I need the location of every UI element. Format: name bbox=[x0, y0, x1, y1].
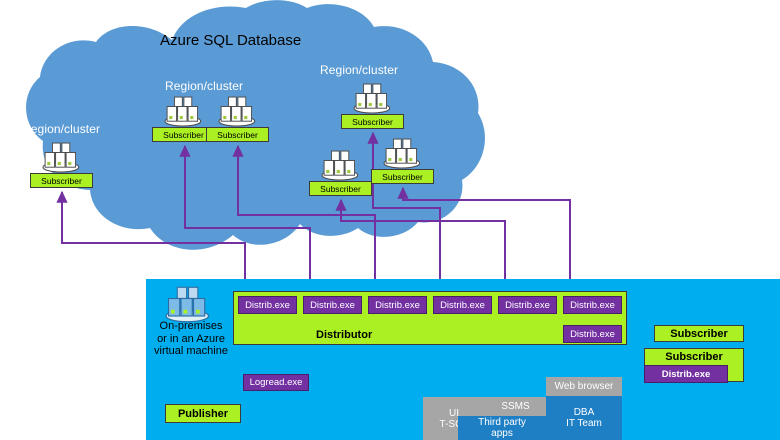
tool-web-browser[interactable]: Web browser bbox=[546, 377, 622, 396]
onprem-subscriber-2-label: Subscriber bbox=[645, 349, 743, 365]
publisher-node[interactable]: Publisher bbox=[165, 404, 241, 423]
onpremises-caption-line-3: virtual machine bbox=[152, 345, 230, 358]
tool-ssms[interactable]: SSMS bbox=[485, 397, 546, 416]
cloud-title: Azure SQL Database bbox=[160, 32, 301, 49]
onprem-subscriber-1[interactable]: Subscriber bbox=[654, 325, 744, 342]
distrib-agent-6[interactable]: Distrib.exe bbox=[563, 296, 622, 314]
cloud-subscriber-1[interactable]: Subscriber bbox=[30, 173, 93, 188]
tool-dba-it-team[interactable]: DBA IT Team bbox=[546, 396, 622, 440]
cloud-subscriber-4[interactable]: Subscriber bbox=[341, 114, 404, 129]
cloud-subscriber-6[interactable]: Subscriber bbox=[371, 169, 434, 184]
distrib-agent-1[interactable]: Distrib.exe bbox=[238, 296, 297, 314]
region-title-2: Region/cluster bbox=[165, 79, 243, 93]
onpremises-caption: On-premises or in an Azure virtual machi… bbox=[152, 320, 230, 358]
logread-agent[interactable]: Logread.exe bbox=[243, 374, 309, 391]
onpremises-caption-line-1: On-premises bbox=[152, 320, 230, 333]
distributor-label: Distributor bbox=[316, 329, 372, 341]
diagram-canvas: Azure SQL Database Region/clusterRegion/… bbox=[0, 0, 780, 440]
distrib-agent-5[interactable]: Distrib.exe bbox=[498, 296, 557, 314]
onprem-subscriber-2-distrib-agent[interactable]: Distrib.exe bbox=[644, 365, 728, 383]
distrib-agent-3[interactable]: Distrib.exe bbox=[368, 296, 427, 314]
region-title-1: Region/cluster bbox=[22, 122, 100, 136]
distrib-agent-4[interactable]: Distrib.exe bbox=[433, 296, 492, 314]
distrib-agent-inner[interactable]: Distrib.exe bbox=[563, 325, 622, 343]
region-title-3: Region/cluster bbox=[320, 63, 398, 77]
tool-third-party[interactable]: Third party apps bbox=[458, 416, 546, 440]
cloud-subscriber-5[interactable]: Subscriber bbox=[309, 181, 372, 196]
distrib-agent-2[interactable]: Distrib.exe bbox=[303, 296, 362, 314]
onprem-subscriber-2[interactable]: SubscriberDistrib.exe bbox=[644, 348, 744, 382]
onpremises-caption-line-2: or in an Azure bbox=[152, 333, 230, 346]
cloud-subscriber-3[interactable]: Subscriber bbox=[206, 127, 269, 142]
